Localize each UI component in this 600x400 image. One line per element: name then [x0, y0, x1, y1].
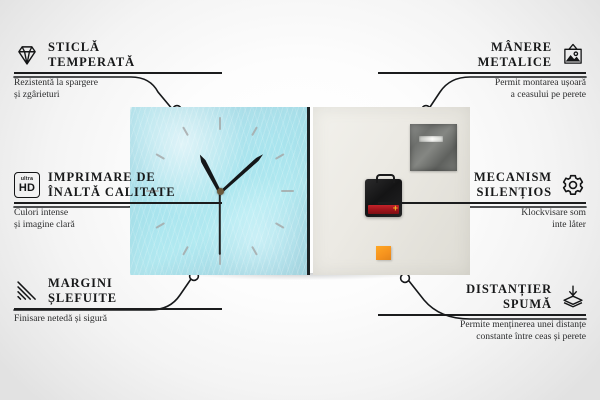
spacer-layers-icon	[560, 284, 586, 310]
callout-title-line2: ȘLEFUITE	[48, 291, 117, 306]
callout-rule	[378, 202, 586, 204]
callout-title-line2: METALICE	[478, 55, 552, 70]
callout-subtitle-line2: a ceasului pe perete	[378, 89, 586, 101]
callout-subtitle: Permit montarea ușoară	[378, 77, 586, 89]
callout-subtitle: Permite menținerea unei distanțe	[378, 319, 586, 331]
callout-foam-spacer: DISTANȚIER SPUMĂ Permite menținerea unei…	[378, 282, 586, 342]
callout-rule	[378, 72, 586, 74]
callout-subtitle: Finisare netedă și sigură	[14, 313, 222, 325]
callout-tempered-glass: STICLĂ TEMPERATĂ Rezistentă la spargere …	[14, 40, 222, 100]
foam-spacer	[376, 246, 391, 260]
clock-hand-minute	[219, 153, 265, 195]
metal-hanger-plate	[410, 124, 457, 171]
callout-title: MARGINI	[48, 276, 117, 291]
callout-subtitle-line2: și zgârieturi	[14, 89, 222, 101]
callout-high-quality-print: ultra HD IMPRIMARE DE ÎNALTĂ CALITATE Cu…	[14, 170, 222, 230]
beveled-edge-icon	[14, 278, 40, 304]
callout-subtitle-line2: inte låter	[378, 219, 586, 231]
callout-metal-handles: MÂNERE METALICE Permit montarea ușoară a…	[378, 40, 586, 100]
ultra-hd-icon: ultra HD	[14, 172, 40, 198]
callout-rule	[378, 314, 586, 316]
callout-title: MÂNERE	[478, 40, 552, 55]
picture-frame-hanger-icon	[560, 42, 586, 68]
clock-hand-second	[219, 192, 221, 254]
callout-title: MECANISM	[474, 170, 552, 185]
callout-title-line2: SILENȚIOS	[474, 185, 552, 200]
callout-title-line2: SPUMĂ	[466, 297, 552, 312]
callout-title-line2: TEMPERATĂ	[48, 55, 135, 70]
callout-title: IMPRIMARE DE	[48, 170, 176, 185]
callout-rule	[14, 72, 222, 74]
callout-silent-mechanism: MECANISM SILENȚIOS Klockvisare som inte …	[378, 170, 586, 230]
callout-title-line2: ÎNALTĂ CALITATE	[48, 185, 176, 200]
callout-rule	[14, 202, 222, 204]
diamond-icon	[14, 42, 40, 68]
callout-subtitle: Klockvisare som	[378, 207, 586, 219]
callout-subtitle-line2: constante între ceas și perete	[378, 331, 586, 343]
callout-rule	[14, 308, 222, 310]
callout-title: STICLĂ	[48, 40, 135, 55]
feature-diagram-canvas: STICLĂ TEMPERATĂ Rezistentă la spargere …	[0, 0, 600, 400]
callout-subtitle-line2: și imagine clară	[14, 219, 222, 231]
callout-title: DISTANȚIER	[466, 282, 552, 297]
clock-hand-cap	[217, 188, 224, 195]
ultra-hd-icon-large-text: HD	[19, 182, 35, 194]
callout-polished-edges: MARGINI ȘLEFUITE Finisare netedă și sigu…	[14, 276, 222, 325]
callout-subtitle: Rezistentă la spargere	[14, 77, 222, 89]
gear-icon	[560, 172, 586, 198]
callout-subtitle: Culori intense	[14, 207, 222, 219]
